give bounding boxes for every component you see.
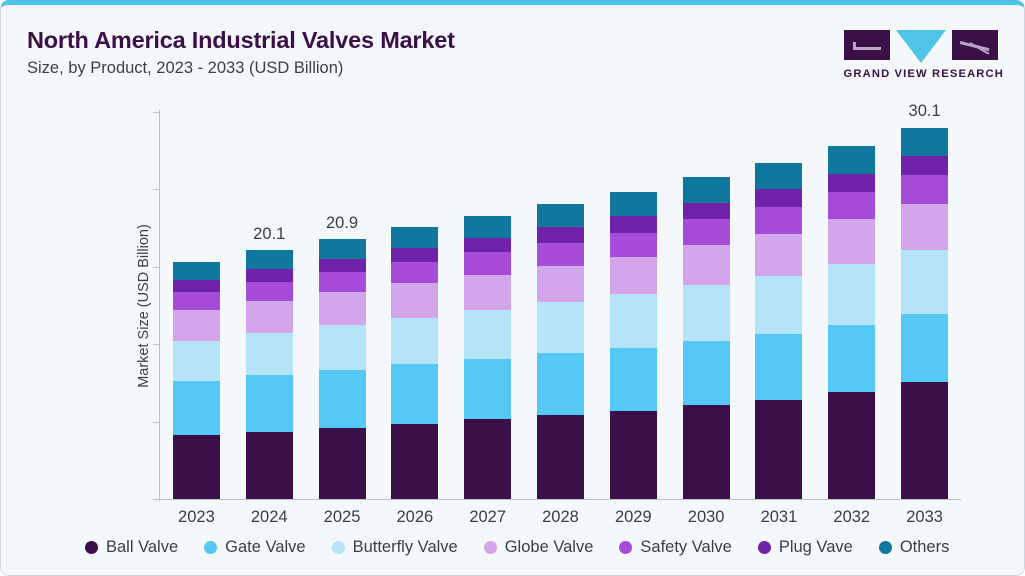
- bar-segment[interactable]: [610, 233, 657, 257]
- bar-segment[interactable]: [391, 248, 438, 262]
- bar-segment[interactable]: [464, 275, 511, 310]
- bar-segment[interactable]: [901, 175, 948, 204]
- logo-text: GRAND VIEW RESEARCH: [844, 68, 1004, 80]
- bar-segment[interactable]: [537, 415, 584, 499]
- bar-segment[interactable]: [610, 257, 657, 295]
- legend-label: Others: [900, 538, 950, 557]
- logo-marks: [844, 30, 1004, 62]
- bar-group[interactable]: [670, 177, 743, 499]
- bar-segment[interactable]: [319, 428, 366, 499]
- legend-label: Plug Vave: [779, 538, 853, 557]
- bar-segment[interactable]: [391, 227, 438, 248]
- bar-group[interactable]: [888, 128, 961, 499]
- y-tick-mark: [153, 499, 160, 500]
- bar-group[interactable]: [815, 146, 888, 499]
- x-tick-label: 2032: [815, 508, 888, 527]
- bar-group[interactable]: [233, 250, 306, 499]
- bar-segment[interactable]: [683, 219, 730, 244]
- bar-segment[interactable]: [464, 310, 511, 359]
- bar-segment[interactable]: [828, 264, 875, 326]
- bar-segment[interactable]: [901, 156, 948, 175]
- bar-segment[interactable]: [246, 269, 293, 282]
- bar-segment[interactable]: [828, 146, 875, 174]
- bar-segment[interactable]: [391, 283, 438, 317]
- bar-segment[interactable]: [319, 239, 366, 259]
- bar-segment[interactable]: [683, 203, 730, 220]
- logo-v-triangle-icon: [896, 30, 946, 63]
- x-axis-line: [159, 499, 961, 500]
- bar-segment[interactable]: [173, 262, 220, 280]
- bar-segment[interactable]: [391, 318, 438, 364]
- bar-group[interactable]: [306, 239, 379, 499]
- bar-segment[interactable]: [901, 128, 948, 157]
- bar-segment[interactable]: [755, 207, 802, 234]
- bar-segment[interactable]: [173, 280, 220, 292]
- legend-item[interactable]: Others: [879, 538, 950, 557]
- legend-label: Globe Valve: [505, 538, 594, 557]
- legend-swatch-icon: [758, 541, 771, 554]
- bar-value-label: 20.9: [306, 214, 379, 233]
- bar-segment[interactable]: [901, 314, 948, 381]
- legend-swatch-icon: [204, 541, 217, 554]
- logo-g-icon: [844, 30, 890, 60]
- bar-segment[interactable]: [319, 259, 366, 272]
- brand-logo: GRAND VIEW RESEARCH: [844, 30, 1004, 80]
- bar-segment[interactable]: [173, 381, 220, 435]
- bar-segment[interactable]: [755, 163, 802, 190]
- bar-segment[interactable]: [901, 250, 948, 314]
- legend-swatch-icon: [332, 541, 345, 554]
- bar-segment[interactable]: [683, 341, 730, 405]
- bar-segment[interactable]: [683, 285, 730, 341]
- bar-segment[interactable]: [319, 370, 366, 429]
- legend-swatch-icon: [85, 541, 98, 554]
- legend-swatch-icon: [619, 541, 632, 554]
- legend-item[interactable]: Ball Valve: [85, 538, 178, 557]
- chart-header: North America Industrial Valves Market S…: [27, 27, 455, 78]
- legend-label: Butterfly Valve: [353, 538, 458, 557]
- bar-segment[interactable]: [537, 243, 584, 266]
- bar-segment[interactable]: [610, 294, 657, 347]
- bar-segment[interactable]: [246, 432, 293, 499]
- bar-segment[interactable]: [755, 334, 802, 399]
- bar-value-label: 20.1: [233, 225, 306, 244]
- bar-segment[interactable]: [464, 238, 511, 252]
- bar-segment[interactable]: [464, 216, 511, 238]
- bar-segment[interactable]: [755, 276, 802, 335]
- x-tick-label: 2027: [451, 508, 524, 527]
- chart-subtitle: Size, by Product, 2023 - 2033 (USD Billi…: [27, 59, 455, 78]
- bar-segment[interactable]: [610, 348, 657, 411]
- bar-segment[interactable]: [246, 282, 293, 301]
- bar-segment[interactable]: [537, 227, 584, 242]
- chart-card: North America Industrial Valves Market S…: [0, 0, 1025, 576]
- legend-item[interactable]: Safety Valve: [619, 538, 731, 557]
- y-tick-mark: [153, 344, 160, 345]
- bar-segment[interactable]: [464, 252, 511, 274]
- bar-segment[interactable]: [683, 177, 730, 202]
- bar-segment[interactable]: [755, 400, 802, 500]
- plot-area: Market Size (USD Billion) 0.07.014.021.0…: [160, 112, 961, 499]
- bar-segment[interactable]: [173, 341, 220, 381]
- bar-segment[interactable]: [755, 234, 802, 276]
- bar-segment[interactable]: [828, 192, 875, 220]
- legend-swatch-icon: [484, 541, 497, 554]
- x-tick-label: 2031: [743, 508, 816, 527]
- bar-segment[interactable]: [755, 189, 802, 207]
- bar-segment[interactable]: [391, 424, 438, 499]
- bar-segment[interactable]: [828, 392, 875, 499]
- x-tick-label: 2029: [597, 508, 670, 527]
- x-tick-label: 2028: [524, 508, 597, 527]
- bar-segment[interactable]: [683, 405, 730, 499]
- bar-segment[interactable]: [828, 174, 875, 192]
- bar-segment[interactable]: [246, 301, 293, 333]
- bar-segment[interactable]: [610, 411, 657, 499]
- x-tick-label: 2024: [233, 508, 306, 527]
- bar-segment[interactable]: [173, 435, 220, 499]
- bar-segment[interactable]: [173, 310, 220, 341]
- bar-segment[interactable]: [246, 250, 293, 269]
- bar-value-label: 30.1: [888, 102, 961, 121]
- bar-segment[interactable]: [319, 272, 366, 292]
- bar-segment[interactable]: [828, 325, 875, 391]
- x-tick-label: 2030: [670, 508, 743, 527]
- bar-segment[interactable]: [246, 333, 293, 375]
- bar-group[interactable]: [597, 192, 670, 499]
- bar-segment[interactable]: [319, 292, 366, 325]
- legend-item[interactable]: Plug Vave: [758, 538, 853, 557]
- bar-group[interactable]: [451, 216, 524, 499]
- bar-segment[interactable]: [246, 375, 293, 431]
- bar-segment[interactable]: [464, 419, 511, 499]
- legend-item[interactable]: Globe Valve: [484, 538, 594, 557]
- y-tick-mark: [153, 267, 160, 268]
- bar-segment[interactable]: [537, 302, 584, 353]
- bar-segment[interactable]: [537, 266, 584, 302]
- bar-segment[interactable]: [610, 192, 657, 216]
- x-tick-label: 2025: [306, 508, 379, 527]
- bar-group[interactable]: [743, 163, 816, 499]
- legend-item[interactable]: Butterfly Valve: [332, 538, 458, 557]
- bar-segment[interactable]: [537, 353, 584, 415]
- x-tick-label: 2023: [160, 508, 233, 527]
- bar-segment[interactable]: [391, 262, 438, 283]
- legend-label: Safety Valve: [640, 538, 731, 557]
- page-title: North America Industrial Valves Market: [27, 27, 455, 54]
- y-tick-mark: [153, 189, 160, 190]
- y-tick-mark: [153, 422, 160, 423]
- bar-segment[interactable]: [464, 359, 511, 420]
- bar-segment[interactable]: [901, 382, 948, 499]
- bar-segment[interactable]: [828, 219, 875, 263]
- y-tick-mark: [153, 112, 160, 113]
- legend-label: Ball Valve: [106, 538, 178, 557]
- bar-segment[interactable]: [901, 204, 948, 250]
- bar-group[interactable]: [524, 204, 597, 499]
- x-tick-label: 2033: [888, 508, 961, 527]
- bar-segment[interactable]: [610, 216, 657, 233]
- bar-group[interactable]: [378, 227, 451, 499]
- bar-segment[interactable]: [683, 245, 730, 285]
- chart-legend: Ball ValveGate ValveButterfly ValveGlobe…: [85, 538, 949, 557]
- bar-segment[interactable]: [537, 204, 584, 227]
- logo-r-icon: [952, 30, 998, 60]
- bar-group[interactable]: [160, 262, 233, 499]
- y-axis-label: Market Size (USD Billion): [136, 224, 152, 388]
- bar-segment[interactable]: [391, 364, 438, 424]
- legend-label: Gate Valve: [225, 538, 305, 557]
- legend-item[interactable]: Gate Valve: [204, 538, 305, 557]
- bar-segment[interactable]: [319, 325, 366, 369]
- bar-segment[interactable]: [173, 292, 220, 310]
- x-tick-label: 2026: [378, 508, 451, 527]
- legend-swatch-icon: [879, 541, 892, 554]
